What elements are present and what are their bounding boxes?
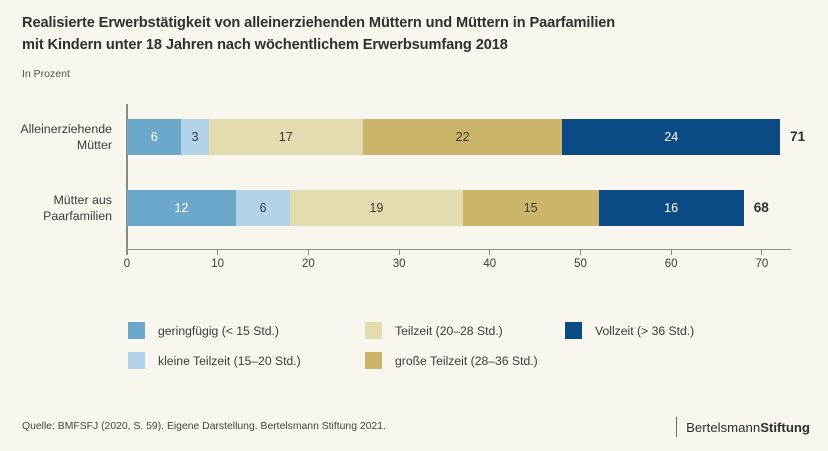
bar-segment[interactable]: 15: [463, 190, 599, 226]
legend-item[interactable]: Vollzeit (> 36 Std.): [565, 322, 694, 339]
bar-total-label: 68: [754, 200, 769, 215]
legend-color-swatch-icon: [128, 352, 145, 369]
x-axis-tick: [489, 250, 490, 255]
legend-item-label: Teilzeit (20–28 Std.): [395, 324, 503, 338]
legend-item[interactable]: große Teilzeit (28–36 Std.): [365, 352, 538, 369]
legend-item[interactable]: Teilzeit (20–28 Std.): [365, 322, 503, 339]
legend-color-swatch-icon: [365, 322, 382, 339]
x-axis-tick-label: 40: [483, 258, 496, 270]
legend-item[interactable]: geringfügig (< 15 Std.): [128, 322, 279, 339]
x-axis-tick-label: 20: [302, 258, 315, 270]
x-axis-tick-label: 10: [211, 258, 224, 270]
logo-divider-icon: [676, 417, 678, 437]
legend-color-swatch-icon: [565, 322, 582, 339]
bertelsmann-stiftung-logo: BertelsmannStiftung: [676, 417, 810, 437]
bar-segment[interactable]: 16: [599, 190, 744, 226]
bar-segment-value: 22: [456, 131, 470, 144]
x-axis-tick: [671, 250, 672, 255]
x-axis-tick: [308, 250, 309, 255]
x-axis-tick-label: 30: [393, 258, 406, 270]
stacked-bar: 63172224: [0, 119, 828, 155]
x-axis-tick: [580, 250, 581, 255]
bar-segment[interactable]: 3: [181, 119, 208, 155]
bar-total-label: 71: [790, 129, 805, 144]
bar-segment-value: 15: [524, 202, 538, 215]
bar-segment-value: 19: [369, 202, 383, 215]
x-axis-tick-label: 0: [124, 258, 130, 270]
legend-item-label: kleine Teilzeit (15–20 Std.): [158, 354, 301, 368]
x-axis-tick: [126, 250, 127, 255]
bar-segment[interactable]: 24: [562, 119, 780, 155]
bar-segment-value: 3: [192, 131, 199, 144]
x-axis-line: [126, 249, 791, 250]
x-axis-tick: [761, 250, 762, 255]
bar-segment-value: 6: [151, 131, 158, 144]
source-note: Quelle: BMFSFJ (2020, S. 59). Eigene Dar…: [22, 421, 386, 432]
legend-item[interactable]: kleine Teilzeit (15–20 Std.): [128, 352, 301, 369]
bar-segment-value: 17: [279, 131, 293, 144]
chart-figure: Realisierte Erwerbstätigkeit von alleine…: [0, 0, 828, 451]
x-axis-tick-label: 60: [665, 258, 678, 270]
legend-color-swatch-icon: [365, 352, 382, 369]
legend-color-swatch-icon: [128, 322, 145, 339]
legend-item-label: Vollzeit (> 36 Std.): [595, 324, 694, 338]
chart-legend: geringfügig (< 15 Std.)kleine Teilzeit (…: [0, 312, 828, 382]
bar-segment[interactable]: 6: [127, 119, 181, 155]
x-axis-tick: [217, 250, 218, 255]
logo-text-regular: Bertelsmann: [686, 420, 760, 435]
bar-segment-value: 24: [664, 131, 678, 144]
chart-footer: Quelle: BMFSFJ (2020, S. 59). Eigene Dar…: [0, 412, 828, 451]
bar-segment-value: 12: [174, 202, 188, 215]
bar-segment[interactable]: 22: [363, 119, 563, 155]
legend-item-label: große Teilzeit (28–36 Std.): [395, 354, 538, 368]
bar-segment[interactable]: 12: [127, 190, 236, 226]
x-axis-tick-label: 50: [574, 258, 587, 270]
x-axis-tick-label: 70: [755, 258, 768, 270]
bar-segment-value: 16: [664, 202, 678, 215]
logo-text-bold: Stiftung: [760, 420, 810, 435]
x-axis-tick: [399, 250, 400, 255]
legend-item-label: geringfügig (< 15 Std.): [158, 324, 279, 338]
bar-segment-value: 6: [260, 202, 267, 215]
plot-area: 010203040506070 AlleinerziehendeMütterMü…: [0, 0, 828, 300]
bar-segment[interactable]: 6: [236, 190, 290, 226]
bar-segment[interactable]: 19: [290, 190, 462, 226]
stacked-bar: 126191516: [0, 190, 828, 226]
bar-segment[interactable]: 17: [209, 119, 363, 155]
